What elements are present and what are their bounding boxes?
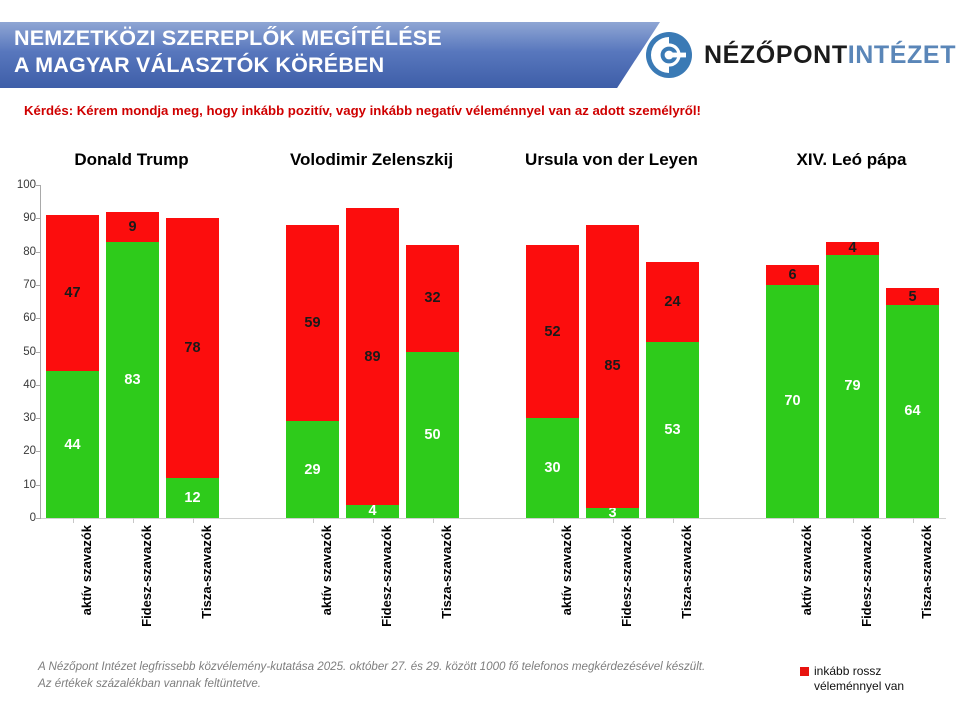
stacked-bar[interactable]: 4447 <box>46 215 99 518</box>
y-axis-tick-mark <box>36 485 41 486</box>
bar-segment-positive[interactable]: 79 <box>826 255 879 518</box>
x-axis-tick-mark <box>73 518 74 523</box>
stacked-bar[interactable]: 5032 <box>406 245 459 518</box>
stacked-bar[interactable]: 794 <box>826 242 879 518</box>
x-axis-category-label: aktív szavazók <box>559 525 574 615</box>
x-axis-category-label: aktív szavazók <box>319 525 334 615</box>
brand-name-secondary: INTÉZET <box>848 41 956 69</box>
page-title-line-1: NEMZETKÖZI SZEREPLŐK MEGÍTÉLÉSE <box>14 25 634 52</box>
y-axis-tick-label: 60 <box>2 312 36 324</box>
group-title: Donald Trump <box>5 150 258 170</box>
bar-segment-negative[interactable]: 78 <box>166 218 219 478</box>
bar-segment-negative[interactable]: 5 <box>886 288 939 305</box>
x-axis-category-label: Tisza-szavazók <box>679 525 694 619</box>
bar-segment-positive[interactable]: 83 <box>106 242 159 518</box>
group-title: Ursula von der Leyen <box>485 150 738 170</box>
bar-segment-positive[interactable]: 50 <box>406 352 459 519</box>
bar-segment-negative[interactable]: 4 <box>826 242 879 255</box>
x-axis-tick-mark <box>673 518 674 523</box>
y-axis-tick-mark <box>36 185 41 186</box>
y-axis-tick-label: 90 <box>2 212 36 224</box>
x-axis-tick-mark <box>313 518 314 523</box>
group-title: XIV. Leó pápa <box>725 150 960 170</box>
y-axis-tick-mark <box>36 252 41 253</box>
page-title: NEMZETKÖZI SZEREPLŐK MEGÍTÉLÉSE A MAGYAR… <box>14 25 634 79</box>
bar-segment-positive[interactable]: 64 <box>886 305 939 518</box>
survey-question: Kérdés: Kérem mondja meg, hogy inkább po… <box>24 103 924 118</box>
group-title: Volodimir Zelenszkij <box>245 150 498 170</box>
plot-area: 01020304050607080901004447aktív szavazók… <box>40 185 946 519</box>
bar-segment-negative[interactable]: 6 <box>766 265 819 285</box>
bar-segment-negative[interactable]: 59 <box>286 225 339 421</box>
brand-logo-text: NÉZŐPONTINTÉZET <box>704 41 956 70</box>
x-axis-category-label: aktív szavazók <box>799 525 814 615</box>
stacked-bar[interactable]: 839 <box>106 212 159 518</box>
x-axis-tick-mark <box>133 518 134 523</box>
methodology-note: A Nézőpont Intézet legfrissebb közvélemé… <box>38 658 798 692</box>
y-axis-tick-label: 80 <box>2 246 36 258</box>
y-axis-tick-mark <box>36 518 41 519</box>
bar-segment-positive[interactable]: 44 <box>46 371 99 518</box>
legend-swatch-negative-icon <box>800 667 809 676</box>
x-axis-tick-mark <box>613 518 614 523</box>
x-axis-tick-mark <box>193 518 194 523</box>
x-axis-tick-mark <box>373 518 374 523</box>
bar-segment-negative[interactable]: 52 <box>526 245 579 418</box>
stacked-bar-chart: 01020304050607080901004447aktív szavazók… <box>0 140 960 640</box>
nezopont-target-icon <box>645 31 693 79</box>
stacked-bar[interactable]: 3052 <box>526 245 579 518</box>
stacked-bar[interactable]: 645 <box>886 288 939 518</box>
y-axis-tick-mark <box>36 318 41 319</box>
y-axis-tick-mark <box>36 285 41 286</box>
x-axis-tick-mark <box>913 518 914 523</box>
x-axis-category-label: Fidesz-szavazók <box>619 525 634 627</box>
bar-segment-positive[interactable]: 30 <box>526 418 579 518</box>
legend-label-negative-line-2: véleménnyel van <box>814 679 904 693</box>
stacked-bar[interactable]: 385 <box>586 225 639 518</box>
stacked-bar[interactable]: 5324 <box>646 262 699 518</box>
y-axis-tick-label: 10 <box>2 479 36 491</box>
bar-segment-positive[interactable]: 53 <box>646 342 699 518</box>
y-axis-tick-label: 100 <box>2 179 36 191</box>
x-axis-category-label: Tisza-szavazók <box>439 525 454 619</box>
legend-label-negative: inkább rossz véleménnyel van <box>814 664 904 694</box>
methodology-note-line-1: A Nézőpont Intézet legfrissebb közvélemé… <box>38 658 798 675</box>
y-axis-tick-mark <box>36 451 41 452</box>
x-axis-tick-mark <box>793 518 794 523</box>
bar-segment-negative[interactable]: 24 <box>646 262 699 342</box>
bar-segment-negative[interactable]: 9 <box>106 212 159 242</box>
bar-segment-positive[interactable]: 29 <box>286 421 339 518</box>
bar-segment-positive[interactable]: 12 <box>166 478 219 518</box>
stacked-bar[interactable]: 706 <box>766 265 819 518</box>
x-axis-tick-mark <box>853 518 854 523</box>
brand-name-primary: NÉZŐPONT <box>704 41 848 69</box>
y-axis-tick-mark <box>36 352 41 353</box>
y-axis-tick-mark <box>36 218 41 219</box>
bar-segment-positive[interactable]: 4 <box>346 505 399 518</box>
bar-segment-negative[interactable]: 47 <box>46 215 99 372</box>
x-axis-category-label: Fidesz-szavazók <box>379 525 394 627</box>
x-axis-tick-mark <box>553 518 554 523</box>
y-axis-tick-label: 0 <box>2 512 36 524</box>
y-axis-tick-label: 70 <box>2 279 36 291</box>
x-axis-category-label: Tisza-szavazók <box>199 525 214 619</box>
bar-segment-negative[interactable]: 32 <box>406 245 459 352</box>
stacked-bar[interactable]: 2959 <box>286 225 339 518</box>
bar-segment-negative[interactable]: 85 <box>586 225 639 508</box>
y-axis-tick-label: 20 <box>2 445 36 457</box>
stacked-bar[interactable]: 489 <box>346 208 399 518</box>
y-axis-tick-label: 40 <box>2 379 36 391</box>
legend-item-negative: inkább rossz véleménnyel van <box>800 664 960 694</box>
methodology-note-line-2: Az értékek százalékban vannak feltüntetv… <box>38 675 798 692</box>
x-axis-category-label: Fidesz-szavazók <box>139 525 154 627</box>
chart-legend: inkább rossz véleménnyel van <box>800 664 960 694</box>
x-axis-tick-mark <box>433 518 434 523</box>
y-axis-tick-mark <box>36 385 41 386</box>
y-axis-tick-label: 50 <box>2 346 36 358</box>
bar-segment-negative[interactable]: 89 <box>346 208 399 504</box>
brand-logo: NÉZŐPONTINTÉZET <box>645 28 945 82</box>
page-title-line-2: A MAGYAR VÁLASZTÓK KÖRÉBEN <box>14 52 634 79</box>
y-axis-tick-mark <box>36 418 41 419</box>
stacked-bar[interactable]: 1278 <box>166 218 219 518</box>
x-axis-category-label: aktív szavazók <box>79 525 94 615</box>
bar-segment-positive[interactable]: 3 <box>586 508 639 518</box>
x-axis-category-label: Tisza-szavazók <box>919 525 934 619</box>
y-axis-tick-label: 30 <box>2 412 36 424</box>
x-axis-category-label: Fidesz-szavazók <box>859 525 874 627</box>
legend-label-negative-line-1: inkább rossz <box>814 664 881 678</box>
bar-segment-positive[interactable]: 70 <box>766 285 819 518</box>
